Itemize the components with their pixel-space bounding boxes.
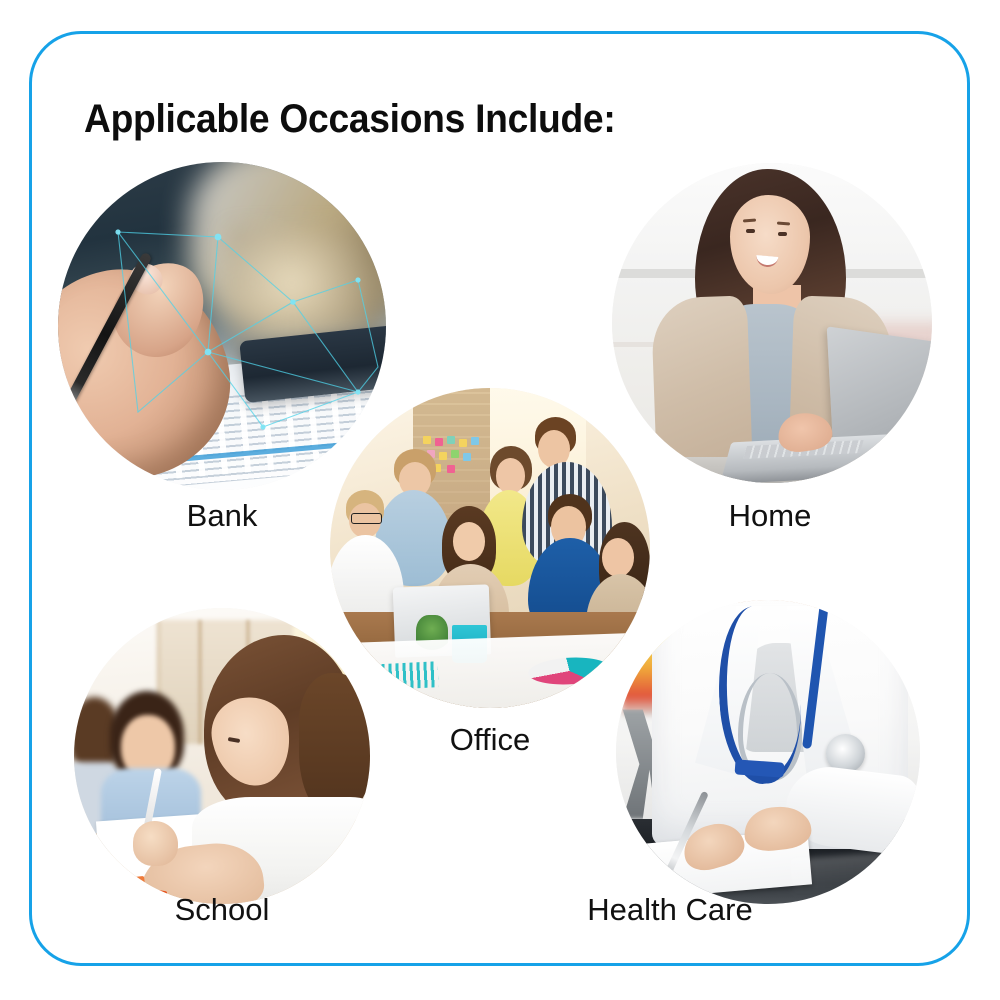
occasion-label-school: School — [118, 892, 326, 928]
school-scene — [74, 608, 370, 904]
office-person-head — [496, 458, 525, 493]
health-care-scene — [616, 600, 920, 904]
occasion-photo-office — [330, 388, 650, 708]
occasion-photo-home — [612, 163, 932, 483]
office-person-head — [602, 538, 634, 576]
school-girl-ponytail — [299, 673, 370, 815]
office-bar-chart — [368, 661, 440, 690]
school-girl-hand — [133, 821, 177, 865]
school-shelf-divider — [198, 620, 202, 744]
occasion-label-home: Home — [686, 498, 854, 534]
office-scene — [330, 388, 650, 708]
occasion-label-office: Office — [390, 722, 590, 758]
occasion-photo-health-care — [616, 600, 920, 904]
page-title: Applicable Occasions Include: — [84, 97, 615, 142]
school-foam-letter — [100, 870, 126, 891]
product-infographic: Applicable Occasions Include: — [0, 0, 1000, 1000]
office-person-head — [453, 522, 485, 560]
occasion-label-bank: Bank — [118, 498, 326, 534]
office-person-glasses — [351, 513, 382, 525]
occasion-photo-school — [74, 608, 370, 904]
home-scene — [612, 163, 932, 483]
home-eye-right — [778, 232, 787, 236]
home-eye-left — [746, 229, 755, 233]
occasion-label-health-care: Health Care — [486, 892, 854, 928]
